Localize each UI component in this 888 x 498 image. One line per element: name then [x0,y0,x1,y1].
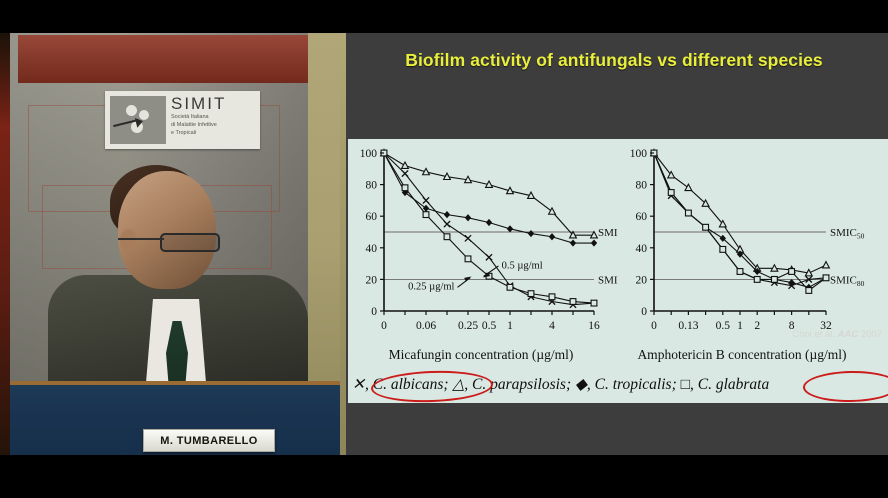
simit-logo-text: SIMIT Società Italiana di Malattie Infet… [171,94,257,137]
x-tick-label: 0.13 [678,320,698,332]
svg-text:Micafungin concentration (µg/m: Micafungin concentration (µg/ml) [389,347,574,362]
simit-logo-subtitle-3: e Tropicali [171,130,257,137]
open-square-marker [444,234,450,240]
x-tick-label: 0.06 [416,320,436,332]
letterbox-bar-top [0,0,888,33]
letterbox-bar-bottom [0,455,888,498]
x-tick-label: 0.5 [482,320,497,332]
cross-marker [465,235,471,241]
annotation-label: 0.5 µg/ml [502,260,543,271]
filled-diamond-marker [507,225,513,232]
y-tick-label: 80 [636,180,648,192]
y-tick-label: 100 [630,148,648,160]
series-line-Cglabrata [384,153,594,303]
y-tick-label: 20 [366,274,378,286]
series-line-Calbicans [654,153,826,286]
open-square-marker [789,269,795,275]
open-square-marker [754,277,760,283]
x-tick-label: 4 [549,320,555,332]
filled-diamond-marker [486,219,492,226]
chart-micafungin: SMIC50SMIC80 020406080100 00.060.250.514… [348,139,618,365]
open-square-marker [402,185,408,191]
x-tick-label: 0 [651,320,657,332]
open-square-marker [703,224,709,230]
simit-logo-plate: SIMIT Società Italiana di Malattie Infet… [105,91,260,149]
chart-micafungin-svg: SMIC50SMIC80 020406080100 00.060.250.514… [348,139,618,365]
speaker-ear [120,229,137,253]
series-line-Ctropicalis [384,153,594,243]
y-tick-label: 0 [641,306,647,318]
open-square-marker [806,288,812,294]
svg-text:Amphotericin B concentration (: Amphotericin B concentration (µg/ml) [637,347,846,362]
cross-marker [486,254,492,260]
figure-legend: ✕, C. albicans; △, C. parapsilosis; ◆, C… [348,365,888,403]
y-tick-label: 40 [366,243,378,255]
simit-logo-title: SIMIT [171,94,257,113]
simit-logo-subtitle-2: di Malattie Infettive [171,122,257,129]
slide-citation: Choi et al. AAC 2007 [792,329,882,340]
cross-marker [402,170,408,176]
open-triangle-marker [823,262,830,268]
open-square-marker [686,210,692,216]
speaker-video-pane: SIMIT Società Italiana di Malattie Infet… [0,33,340,455]
open-square-marker [720,246,726,252]
cross-marker [444,221,450,227]
y-tick-label: 60 [636,211,648,223]
reference-line-label: SMIC80 [598,274,618,288]
speaker-nameplate: M. TUMBARELLO [143,429,275,452]
filled-diamond-marker [570,239,576,246]
speaker-name: M. TUMBARELLO [160,435,257,447]
cross-marker [423,197,429,203]
series-line-Ctropicalis [654,153,826,287]
x-tick-label: 1 [507,320,513,332]
citation-year: 2007 [861,329,882,340]
video-left-edge [0,33,10,455]
y-tick-label: 100 [360,148,378,160]
open-square-marker [423,212,429,218]
filled-diamond-marker [465,214,471,221]
open-square-marker [570,299,576,305]
red-banner [18,35,308,83]
slide-title: Biofilm activity of antifungals vs diffe… [340,50,888,71]
open-square-marker [528,291,534,297]
filled-diamond-marker [528,230,534,237]
screen-capture: SIMIT Società Italiana di Malattie Infet… [0,0,888,498]
slide-left-accent-bar [340,33,346,455]
y-tick-label: 80 [366,180,378,192]
simit-emblem-icon [110,96,166,144]
presentation-slide: Biofilm activity of antifungals vs diffe… [340,33,888,455]
filled-diamond-marker [444,211,450,218]
open-square-marker [737,269,743,275]
y-tick-label: 20 [636,274,648,286]
open-triangle-marker [685,184,692,190]
open-square-marker [591,300,597,306]
y-tick-label: 40 [636,243,648,255]
open-triangle-marker [549,208,556,214]
reference-line-label: SMIC80 [830,274,865,288]
annotation-label: 0.25 µg/ml [408,282,454,293]
x-tick-label: 1 [737,320,743,332]
x-tick-label: 0 [381,320,387,332]
simit-logo-subtitle-1: Società Italiana [171,114,257,121]
x-tick-label: 2 [754,320,760,332]
open-square-marker [668,190,674,196]
x-tick-label: 0.25 [458,320,478,332]
citation-journal: AAC [838,329,859,340]
y-tick-label: 60 [366,211,378,223]
open-square-marker [465,256,471,262]
y-tick-label: 0 [371,306,377,318]
open-triangle-marker [402,162,409,168]
reference-line-label: SMIC50 [598,227,618,241]
open-square-marker [772,277,778,283]
open-square-marker [507,284,513,290]
reference-line-label: SMIC50 [830,227,865,241]
filled-diamond-marker [549,233,555,240]
x-tick-label: 16 [588,320,600,332]
figure-legend-text: ✕, C. albicans; △, C. parapsilosis; ◆, C… [352,375,769,394]
filled-diamond-marker [591,239,597,246]
filled-diamond-marker [423,205,429,212]
figure-panel: SMIC50SMIC80 020406080100 00.060.250.514… [348,139,888,403]
citation-author: Choi et al. [792,329,835,340]
x-tick-label: 0.5 [716,320,731,332]
open-square-marker [823,275,829,281]
speaker-glasses [160,233,220,252]
open-square-marker [549,294,555,300]
